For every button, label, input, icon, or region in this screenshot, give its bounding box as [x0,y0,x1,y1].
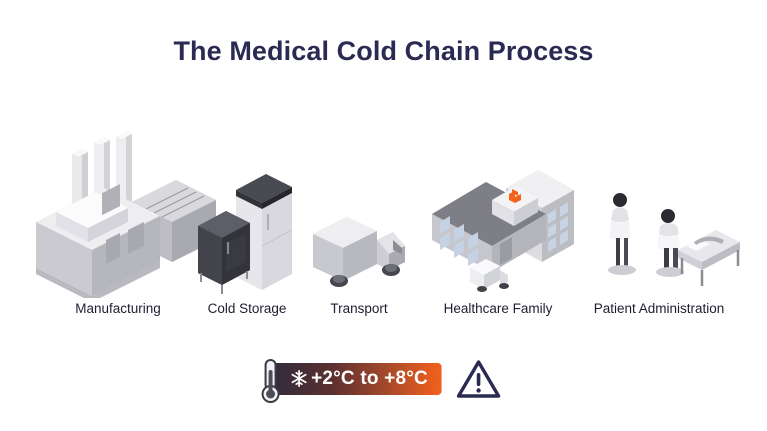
hospital-building-icon [414,113,582,298]
refrigerator-icon [185,113,309,298]
page-title: The Medical Cold Chain Process [0,36,767,67]
warning-triangle-icon [456,358,502,400]
stage-label-patient-administration: Patient Administration [566,301,752,316]
temperature-requirement-bar: +2°C to +8°C [265,359,502,399]
stage-label-healthcare-family: Healthcare Family [414,301,582,316]
temperature-range-label: +2°C to +8°C [311,368,428,390]
delivery-truck-icon [300,113,418,298]
thermometer-icon [253,354,287,404]
snowflake-icon [289,369,308,388]
stage-patient-administration: Patient Administration [566,113,752,316]
cold-chain-stage-row: Manufacturing [0,96,767,316]
patient-bed-icon [566,113,752,298]
stage-cold-storage: Cold Storage [185,113,309,316]
temperature-range-pill: +2°C to +8°C [265,363,442,395]
stage-label-cold-storage: Cold Storage [185,301,309,316]
stage-transport: Transport [300,113,418,316]
stage-label-transport: Transport [300,301,418,316]
stage-healthcare-family: Healthcare Family [414,113,582,316]
